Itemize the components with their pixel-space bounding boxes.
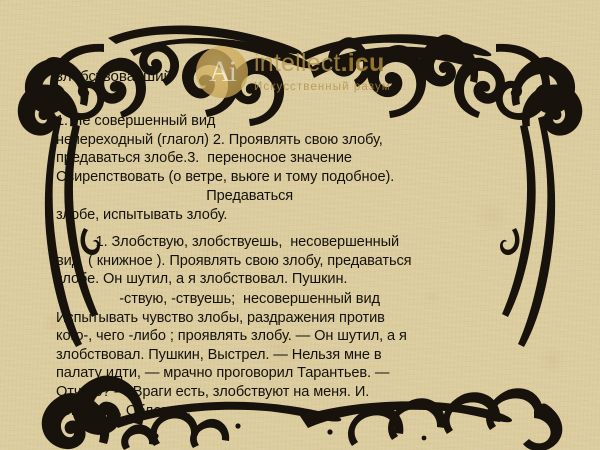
frame-left-border bbox=[45, 116, 100, 347]
entry-sense-1: 1. Не совершенный вид непереходный (глаг… bbox=[56, 112, 394, 186]
watermark: Ai intellect.icu Искусственный разум bbox=[196, 46, 391, 98]
watermark-title-light: intellect bbox=[254, 49, 341, 77]
entry-headword: злобствовавший bbox=[56, 68, 172, 87]
slide-canvas: Ai intellect.icu Искусственный разум зло… bbox=[0, 0, 600, 450]
watermark-title: intellect.icu bbox=[254, 51, 391, 76]
entry-text-content: злобствовавший 1. Не совершенный вид неп… bbox=[0, 0, 600, 450]
ornamental-frame bbox=[0, 0, 600, 450]
frame-right-border bbox=[500, 116, 555, 347]
frame-bottom-flourish bbox=[42, 376, 563, 450]
entry-sense-3: -ствую, -ствуешь; несовершенный вид Испы… bbox=[56, 290, 407, 420]
watermark-title-bold: .icu bbox=[341, 49, 385, 77]
paper-grain-texture bbox=[0, 0, 600, 450]
watermark-logo-badge: Ai bbox=[196, 46, 248, 98]
watermark-logo-glyph: Ai bbox=[196, 46, 248, 98]
watermark-subtitle: Искусственный разум bbox=[254, 82, 391, 94]
frame-top-right-flourish bbox=[454, 44, 582, 136]
entry-sense-1-tail: Предаваться злобе, испытывать злобу. bbox=[56, 187, 293, 224]
entry-sense-2: 1. Злобствую, злобствуешь, несовершенный… bbox=[56, 233, 411, 289]
frame-top-flourish bbox=[18, 26, 492, 136]
watermark-text: intellect.icu Искусственный разум bbox=[254, 51, 391, 94]
paper-stain-texture bbox=[0, 0, 600, 450]
